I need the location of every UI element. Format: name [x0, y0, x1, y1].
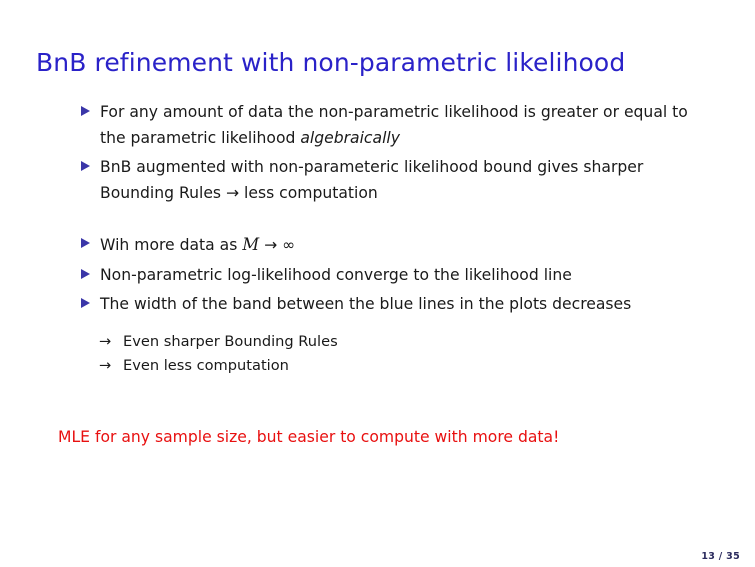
list-item: The width of the band between the blue l…: [0, 292, 755, 318]
list-item: For any amount of data the non-parametri…: [0, 100, 755, 151]
triangle-bullet-icon: [81, 238, 90, 248]
presentation-slide: BnB refinement with non-parametric likel…: [0, 0, 755, 567]
bullet-block-one: For any amount of data the non-parametri…: [0, 100, 755, 206]
sub-list-item: → Even less computation: [0, 354, 755, 378]
triangle-bullet-icon: [81, 161, 90, 171]
right-arrow-icon: →: [99, 330, 111, 354]
triangle-bullet-icon: [81, 106, 90, 116]
math-arrow-symbol: →: [259, 236, 282, 254]
triangle-bullet-icon: [81, 298, 90, 308]
list-item-label: Wih more data as M → ∞: [100, 232, 693, 259]
sub-item-block: → Even sharper Bounding Rules → Even les…: [0, 330, 755, 378]
math-variable: M: [242, 235, 259, 254]
list-item-emphasis: algebraically: [300, 129, 400, 147]
list-item-label: The width of the band between the blue l…: [100, 292, 693, 318]
sub-list-item: → Even sharper Bounding Rules: [0, 330, 755, 354]
sub-list-item-label: Even sharper Bounding Rules: [123, 333, 338, 350]
alert-text: MLE for any sample size, but easier to c…: [58, 425, 559, 449]
list-item-text: Non-parametric log-likelihood converge t…: [100, 266, 572, 284]
list-item-label: BnB augmented with non-parameteric likel…: [100, 155, 693, 206]
sub-list-item-label: Even less computation: [123, 357, 289, 374]
math-infinity-symbol: ∞: [282, 236, 295, 254]
page-number-indicator: 13 / 35: [701, 551, 740, 562]
list-item: Wih more data as M → ∞: [0, 232, 755, 259]
list-item-label: For any amount of data the non-parametri…: [100, 100, 693, 151]
list-item-label: Non-parametric log-likelihood converge t…: [100, 263, 693, 289]
list-item-text: BnB augmented with non-parameteric likel…: [100, 158, 643, 202]
list-item: BnB augmented with non-parameteric likel…: [0, 155, 755, 206]
slide-body: For any amount of data the non-parametri…: [0, 100, 755, 378]
bullet-block-two: Wih more data as M → ∞ Non-parametric lo…: [0, 232, 755, 318]
right-arrow-icon: →: [99, 354, 111, 378]
triangle-bullet-icon: [81, 269, 90, 279]
list-item-text: Wih more data as: [100, 236, 242, 254]
list-item: Non-parametric log-likelihood converge t…: [0, 263, 755, 289]
page-title: BnB refinement with non-parametric likel…: [36, 47, 625, 79]
list-item-text: The width of the band between the blue l…: [100, 295, 631, 313]
